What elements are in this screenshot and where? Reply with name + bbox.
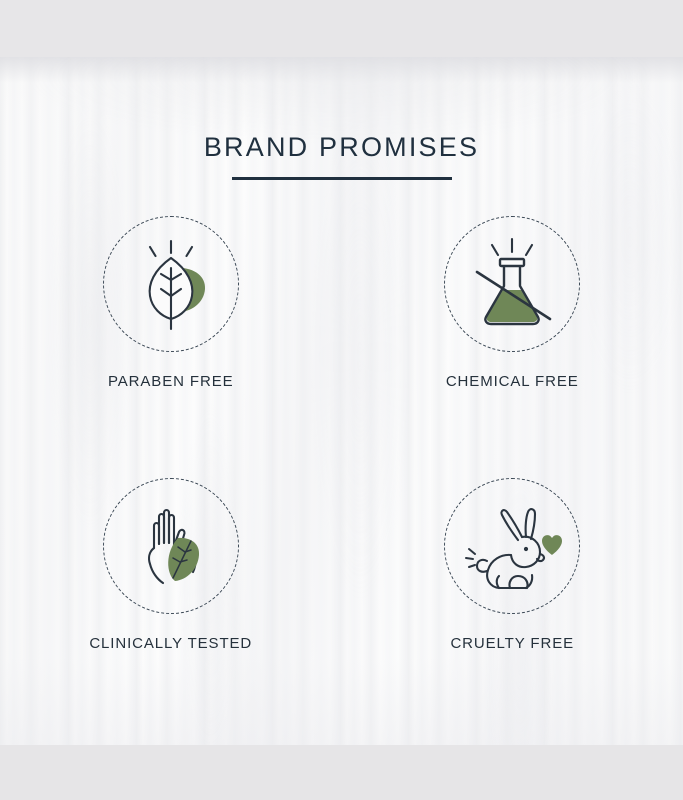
page-title: BRAND PROMISES bbox=[0, 132, 683, 163]
rabbit-outline bbox=[477, 509, 544, 588]
promise-item-cruelty-free[interactable]: CRUELTY FREE bbox=[342, 478, 683, 652]
rabbit-with-heart-icon bbox=[460, 494, 564, 598]
panel-content: BRAND PROMISES bbox=[0, 0, 683, 800]
promise-item-clinically-tested[interactable]: CLINICALLY TESTED bbox=[0, 478, 342, 652]
flask-cap bbox=[500, 259, 524, 266]
leaf-green-shape bbox=[168, 538, 199, 581]
flask-crossed-out-icon bbox=[462, 234, 562, 334]
heart-icon bbox=[542, 535, 562, 555]
promise-badge-circle bbox=[444, 478, 580, 614]
rabbit-motion-lines bbox=[466, 549, 475, 567]
promise-label: PARABEN FREE bbox=[108, 373, 234, 390]
promise-badge-circle bbox=[103, 216, 239, 352]
hand-with-leaf-icon bbox=[121, 496, 221, 596]
rabbit-eye bbox=[524, 547, 528, 551]
promises-grid: PARABEN FREE bbox=[0, 216, 683, 652]
title-underline-rule bbox=[232, 177, 452, 180]
brand-promises-panel: BRAND PROMISES bbox=[0, 0, 683, 800]
promise-label: CRUELTY FREE bbox=[450, 635, 574, 652]
promise-badge-circle bbox=[444, 216, 580, 352]
promise-item-chemical-free[interactable]: CHEMICAL FREE bbox=[342, 216, 683, 390]
promises-row-2: CLINICALLY TESTED bbox=[0, 478, 683, 652]
leaf-icon bbox=[121, 234, 221, 334]
promise-badge-circle bbox=[103, 478, 239, 614]
promise-item-paraben-free[interactable]: PARABEN FREE bbox=[0, 216, 342, 390]
promise-label: CLINICALLY TESTED bbox=[89, 635, 252, 652]
promise-label: CHEMICAL FREE bbox=[446, 373, 579, 390]
promises-row-1: PARABEN FREE bbox=[0, 216, 683, 390]
row-spacer bbox=[0, 390, 683, 478]
